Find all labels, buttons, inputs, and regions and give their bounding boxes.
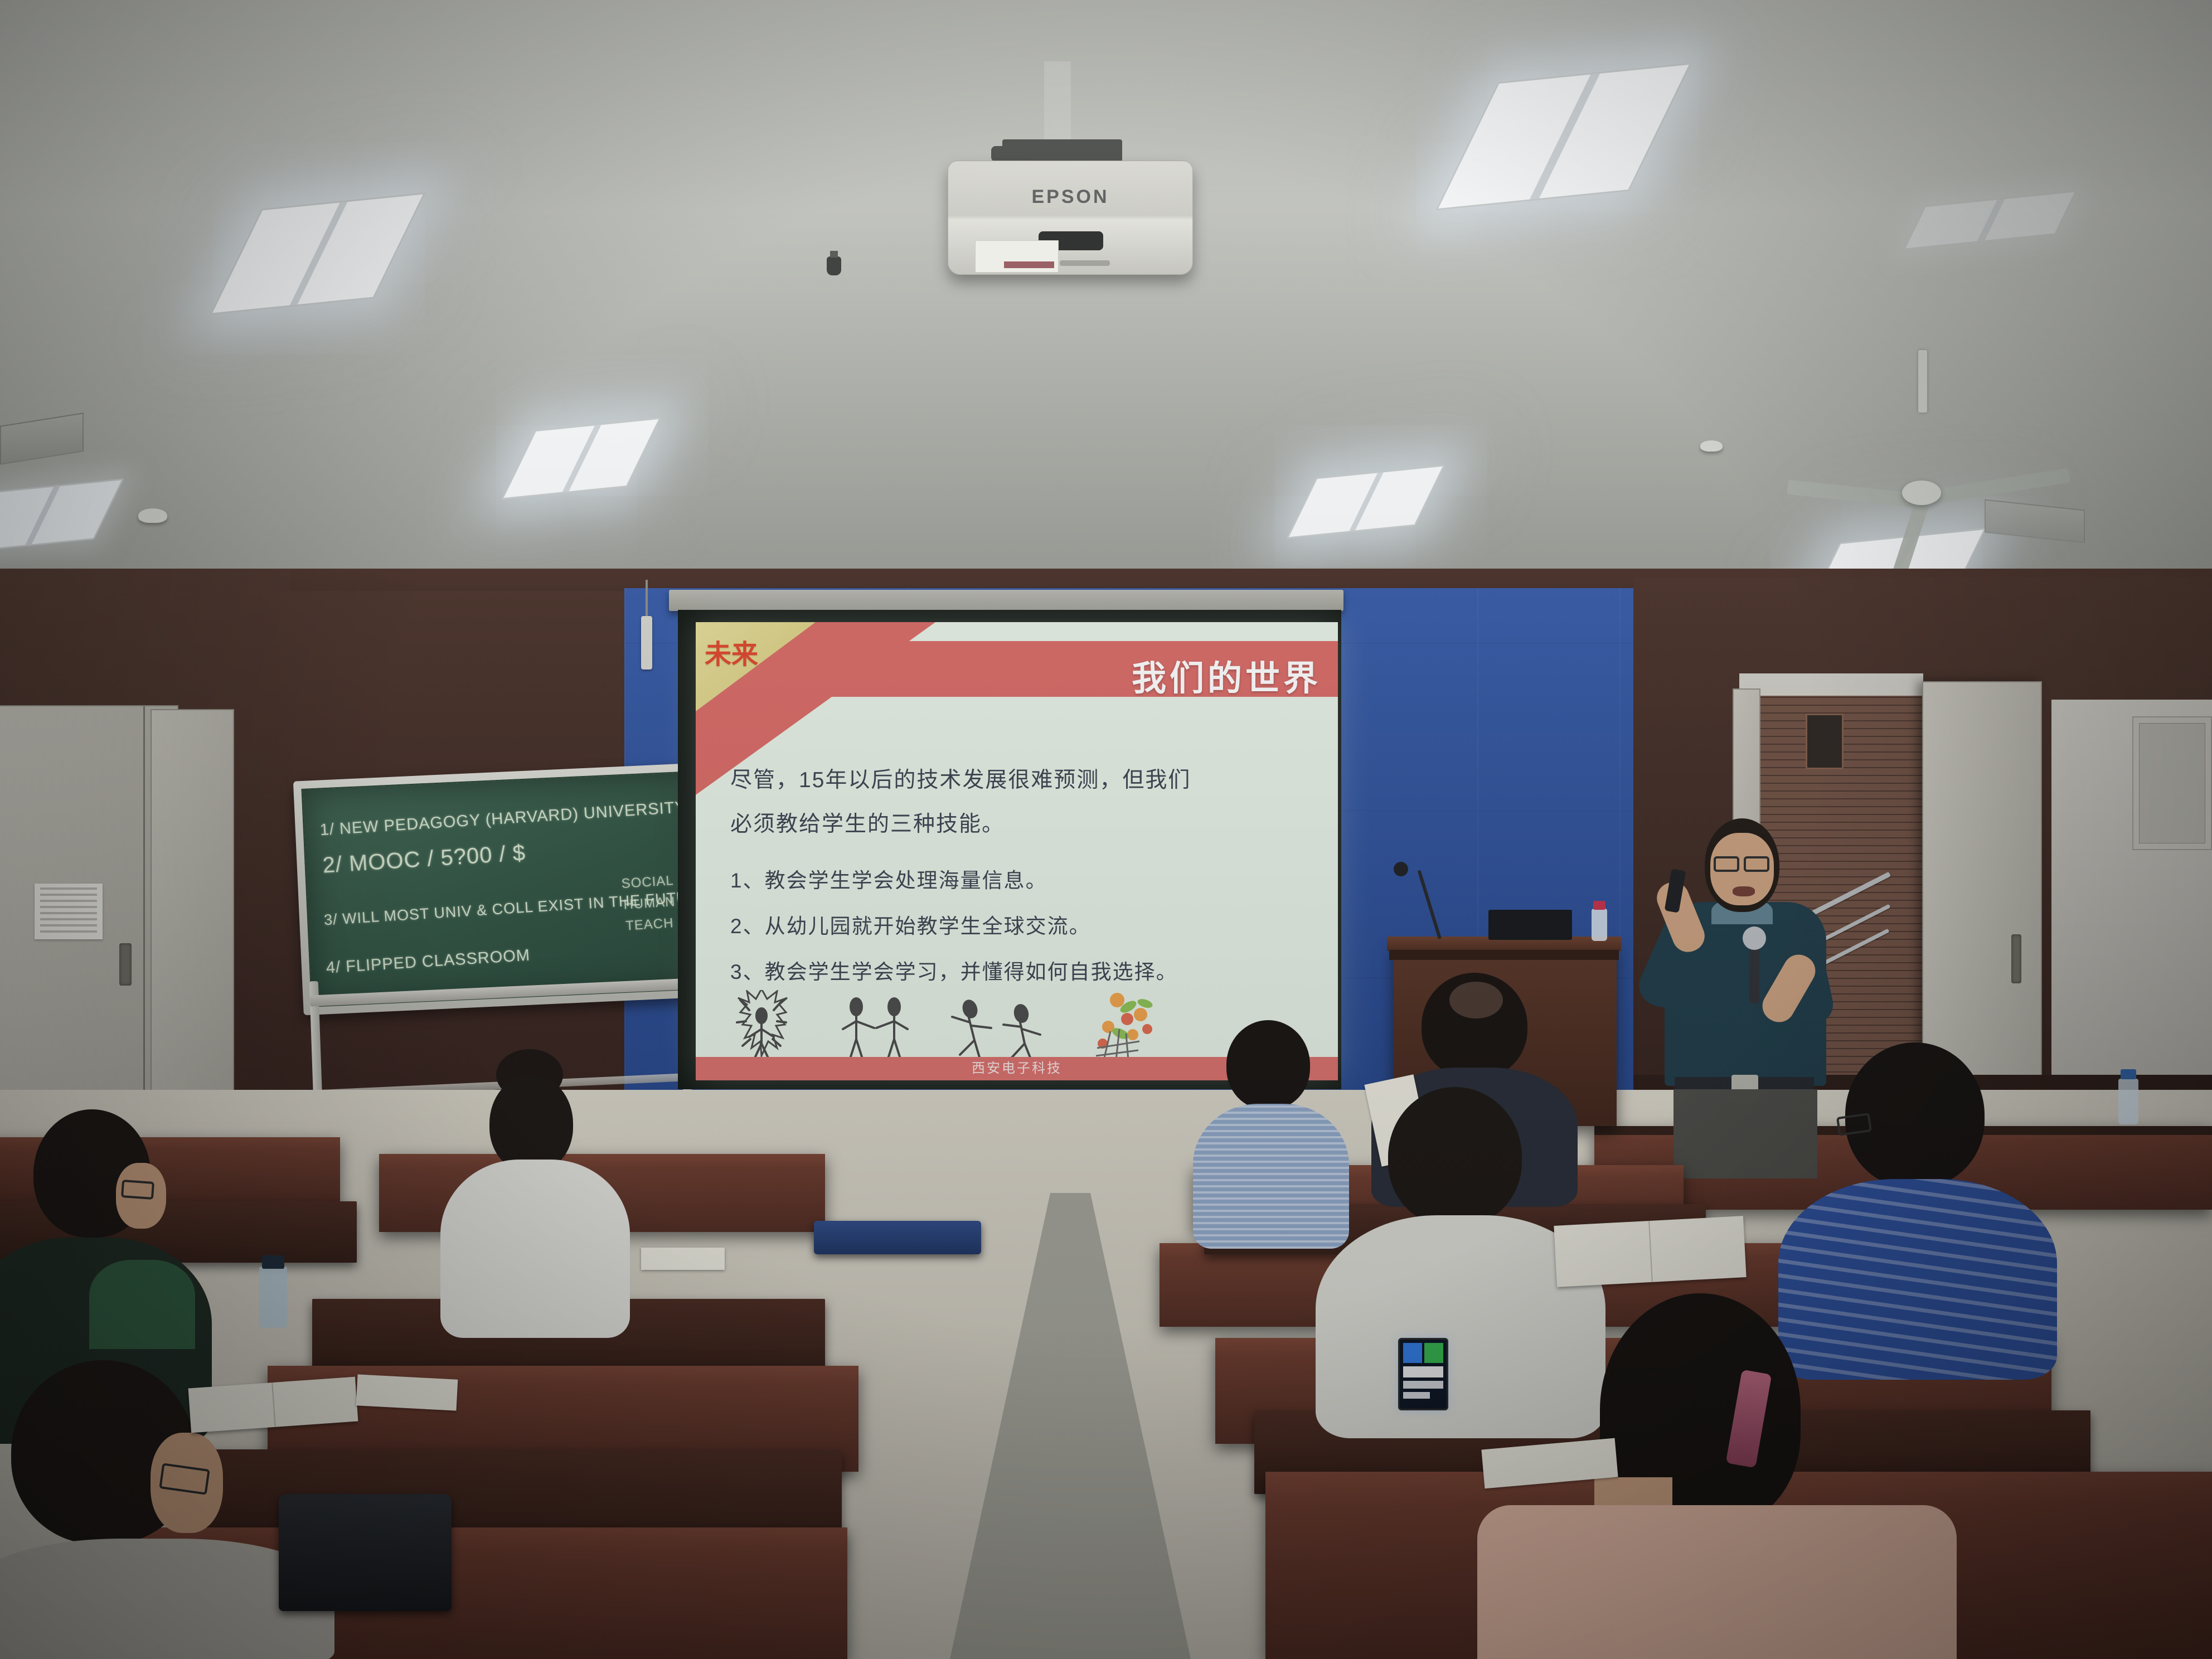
bald-spot	[1449, 982, 1503, 1018]
slide-points: 1、教会学生学会处理海量信息。 2、从幼儿园就开始教学生全球交流。 3、教会学生…	[730, 867, 1304, 1005]
screen-roller-housing	[669, 590, 1343, 611]
torso	[1193, 1104, 1349, 1249]
torso	[1477, 1505, 1957, 1659]
presentation-slide: 未来 我们的世界 尽管，15年以后的技术发展很难预测，但我们 必须教给学生的三种…	[696, 622, 1338, 1080]
loose-paper	[356, 1374, 458, 1410]
slide-title: 我们的世界	[1132, 650, 1321, 700]
presenter-glasses-icon	[1744, 856, 1769, 872]
slide-point-2: 2、从幼儿园就开始教学生全球交流。	[730, 913, 1304, 940]
head	[489, 1075, 573, 1172]
smoke-detector-icon	[1700, 440, 1723, 452]
slide-corner-stamp-text: 未来	[705, 632, 758, 671]
projector-brand-label: EPSON	[948, 186, 1192, 208]
lecture-hall-scene: EPSON	[0, 0, 2212, 1659]
open-book	[1554, 1216, 1746, 1287]
slide-intro-line-2: 必须教给学生的三种技能。	[730, 810, 1288, 840]
screen-pull-handle[interactable]	[641, 616, 652, 670]
head	[1388, 1087, 1522, 1226]
presenter-mouth	[1733, 886, 1755, 896]
presenter-microphone	[1749, 942, 1759, 1003]
projector-bracket	[991, 146, 1025, 162]
wall-control-panel[interactable]	[2132, 716, 2212, 850]
projector-vent-icon	[1060, 260, 1110, 266]
audience-member-left-white-blouse	[424, 1054, 647, 1366]
projector-warning-strip	[1004, 261, 1054, 268]
ceiling-fan-hub	[1902, 481, 1941, 505]
podium-lip	[1389, 950, 1619, 960]
slide-point-3: 3、教会学生学会学习，并懂得如何自我选择。	[730, 959, 1304, 986]
left-door-secondary[interactable]	[151, 709, 234, 1099]
projector: EPSON	[948, 161, 1193, 275]
podium-laptop[interactable]	[1488, 910, 1572, 940]
blackboard-note-3: TEACH	[625, 915, 674, 934]
blackboard-note-2: HUMAN	[623, 894, 676, 913]
podium-water-bottle	[1592, 909, 1607, 941]
security-camera-icon	[827, 256, 841, 275]
head	[1226, 1020, 1310, 1109]
ceiling-fan-rod	[1918, 350, 1927, 413]
left-door-handle[interactable]	[119, 943, 132, 986]
blackboard: 1/ NEW PEDAGOGY (HARVARD) UNIVERSITY 2/ …	[293, 763, 707, 1015]
right-door-handle[interactable]	[2011, 934, 2021, 983]
screen-pull-cord[interactable]	[646, 580, 648, 620]
desk-bottle-cap	[262, 1255, 284, 1269]
presenter-microphone-head	[1743, 926, 1766, 950]
right-door-open[interactable]	[1922, 681, 2042, 1088]
smoke-detector-icon	[138, 508, 167, 523]
audience-member-blue-shirt	[1193, 1020, 1349, 1254]
shirt-accent	[89, 1260, 195, 1349]
blue-folder	[814, 1221, 981, 1254]
blackboard-note-1: SOCIAL	[621, 873, 675, 892]
glasses-icon	[121, 1180, 154, 1200]
podium-microphone-head	[1394, 862, 1408, 876]
desk-bottle-cap	[2121, 1069, 2136, 1079]
slide-intro-line-1: 尽管，15年以后的技术发展很难预测，但我们	[730, 766, 1288, 795]
slide-point-1: 1、教会学生学会处理海量信息。	[730, 867, 1304, 894]
loose-paper	[641, 1248, 725, 1270]
presenter-glasses-icon	[1714, 856, 1739, 872]
slide-intro-text: 尽管，15年以后的技术发展很难预测，但我们 必须教给学生的三种技能。	[730, 766, 1288, 853]
wall-panel-face	[2139, 723, 2205, 843]
laptop-bag	[279, 1494, 452, 1611]
desk-water-bottle	[259, 1267, 287, 1328]
podium-bottle-cap	[1593, 901, 1605, 910]
door-notice-paper	[35, 884, 103, 939]
stairwell-window	[1806, 714, 1844, 769]
projector-mount-rod	[1044, 61, 1071, 148]
desk-water-bottle	[2118, 1079, 2138, 1124]
slide-illustration	[735, 990, 1181, 1063]
smartphone[interactable]	[1398, 1338, 1448, 1410]
torso	[440, 1160, 630, 1338]
